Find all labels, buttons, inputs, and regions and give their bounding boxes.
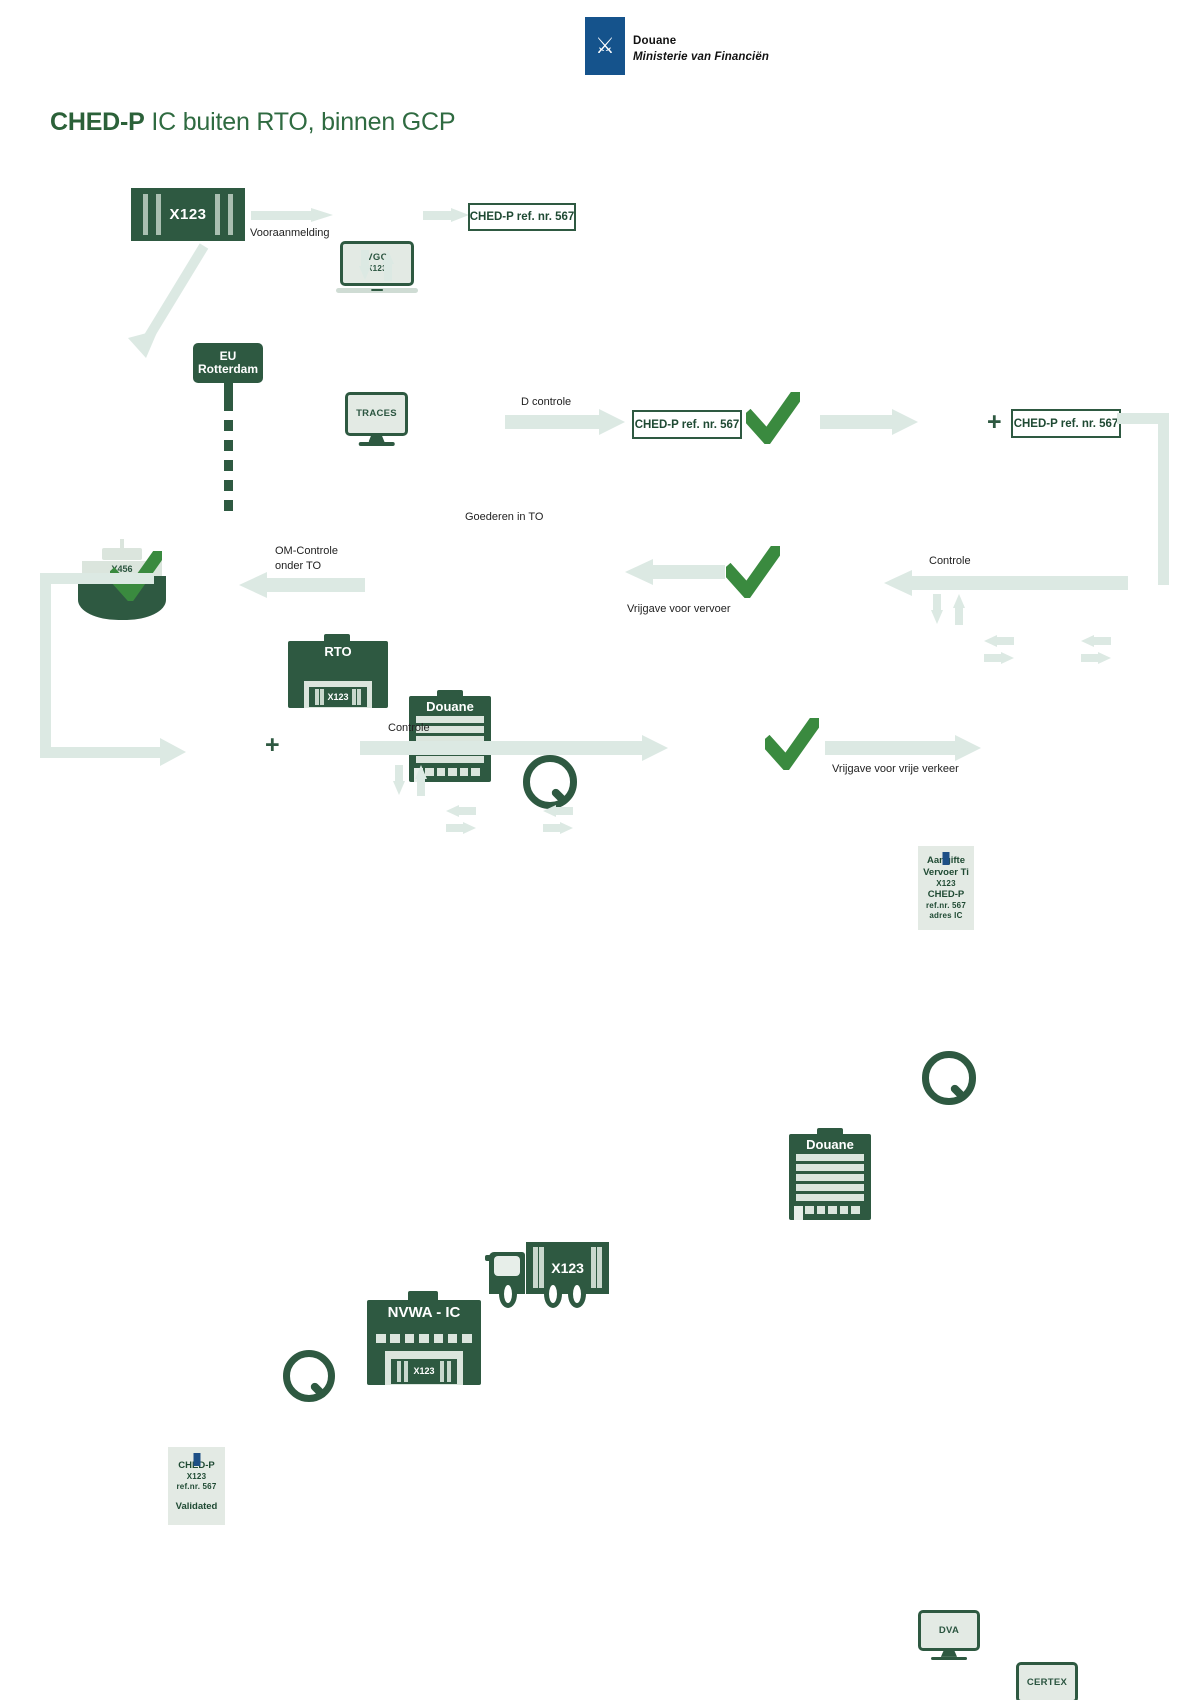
arrow-nvwa-to-validated <box>239 572 365 598</box>
arrow-down-douane-dva <box>931 594 943 626</box>
aangifte-vervoer-l2: Vervoer Ti <box>923 867 969 879</box>
checkmark-1-icon <box>746 392 800 444</box>
border-dashed-line <box>224 400 233 520</box>
arrow-certex-to-traces-bottom <box>543 822 573 834</box>
arrow-up-traces-vgc <box>382 250 394 282</box>
magnifier-controle-right-icon <box>922 1051 974 1103</box>
aangifte-vervoer-l4: CHED-P <box>928 889 964 901</box>
traces-monitor-top-screen: TRACES <box>345 392 408 436</box>
monitor-dva: DVA <box>918 1610 980 1662</box>
label-d-controle: D controle <box>521 396 571 408</box>
ched-validated-l3: ref.nr. 567 <box>176 1482 216 1492</box>
logo-line-2: Ministerie van Financiën <box>633 50 769 66</box>
page-title: CHED-P IC buiten RTO, binnen GCP <box>50 108 455 137</box>
arrow-to-douane-bottom <box>360 735 670 761</box>
monitor-dva-screen: DVA <box>918 1610 980 1651</box>
douane-mid-label: Douane <box>409 699 491 714</box>
monitor-certex-right: CERTEX <box>1016 1662 1078 1700</box>
truck-icon: X123 <box>489 1236 609 1308</box>
connector-left-l <box>40 573 200 763</box>
vgc-screen: VGC X123 <box>340 241 414 286</box>
plus-sign-1: + <box>987 410 1002 435</box>
nvwa-container-label: X123 <box>413 1366 434 1376</box>
arrow-to-chedref-mid <box>505 409 627 435</box>
arrow-right-to-douane <box>884 570 1128 596</box>
arrow-traces-to-certex-right <box>1081 635 1111 647</box>
ched-ref-box-right: CHED-P ref. nr. 567 <box>1011 409 1121 438</box>
label-controle-right: Controle <box>929 555 971 567</box>
arrow-up-dva-douane <box>953 594 965 626</box>
arrow-certex-to-dva <box>984 635 1014 647</box>
ched-validated-status: Validated <box>176 1501 218 1513</box>
rto-container-label: X123 <box>327 692 348 702</box>
arrow-vrijgave-vrije-verkeer <box>825 735 983 761</box>
rto-warehouse: RTO X123 <box>288 634 388 708</box>
douane-right-label: Douane <box>789 1137 871 1152</box>
magnifier-om-controle-icon <box>283 1350 333 1400</box>
aangifte-vervoer-card: Aangifte Vervoer Ti X123 CHED-P ref.nr. … <box>918 846 974 930</box>
arrow-vgc-to-chedref <box>423 208 471 222</box>
checkmark-4-icon <box>765 718 819 770</box>
logo-text: Douane Ministerie van Financiën <box>633 34 769 65</box>
rijksoverheid-logo-bar: ⚔ <box>585 17 625 75</box>
connector-right-u <box>1117 413 1177 585</box>
clip-icon <box>943 852 950 865</box>
nvwa-label: NVWA - IC <box>367 1304 481 1321</box>
eu-rotterdam-sign: EU Rotterdam <box>193 343 263 391</box>
label-vooraanmelding: Vooraanmelding <box>250 227 330 239</box>
arrow-dva-to-certex <box>984 652 1014 664</box>
magnifier-d-controle-icon <box>523 755 575 807</box>
ched-ref-box-top: CHED-P ref. nr. 567 <box>468 203 576 231</box>
eu-sign-line-2: Rotterdam <box>198 362 258 376</box>
checkmark-2-icon <box>726 546 780 598</box>
arrow-down-to-dms <box>393 765 405 797</box>
logo-line-1: Douane <box>633 34 769 50</box>
douane-office-right: Douane <box>789 1128 871 1220</box>
plus-sign-2: + <box>265 733 280 758</box>
arrow-certex-to-dms <box>446 805 476 817</box>
arrow-up-from-dms <box>415 765 427 797</box>
clip-icon <box>193 1453 200 1466</box>
label-om-controle: OM-Controle onder TO <box>275 544 338 574</box>
aangifte-vervoer-l5: ref.nr. 567 <box>926 901 966 911</box>
label-goederen-in-to: Goederen in TO <box>465 511 543 523</box>
ched-ref-box-mid: CHED-P ref. nr. 567 <box>632 410 742 439</box>
eu-sign-line-1: EU <box>220 349 237 363</box>
monitor-certex-right-screen: CERTEX <box>1016 1662 1078 1700</box>
vgc-laptop: VGC X123 <box>340 241 414 297</box>
ched-validated-card: CHED-P X123 ref.nr. 567 Validated <box>168 1447 225 1525</box>
royal-crest-icon: ⚔ <box>595 35 615 57</box>
aangifte-vervoer-l3: X123 <box>936 879 955 889</box>
label-vrijgave-vervoer: Vrijgave voor vervoer <box>627 603 731 615</box>
page-title-rest: IC buiten RTO, binnen GCP <box>145 108 456 136</box>
arrow-vooraanmelding <box>251 208 333 222</box>
om-controle-line-1: OM-Controle <box>275 544 338 559</box>
traces-monitor-top: TRACES <box>345 392 408 448</box>
nvwa-ic-warehouse: NVWA - IC X123 <box>367 1291 481 1385</box>
truck-container-label: X123 <box>551 1260 584 1276</box>
container-x123-top: X123 <box>131 188 245 241</box>
label-controle-bottom: Controle <box>388 722 430 734</box>
rto-label: RTO <box>288 644 388 659</box>
arrow-down-vgc-traces <box>359 250 371 282</box>
arrow-certex-to-traces-right <box>1081 652 1111 664</box>
page-title-bold: CHED-P <box>50 108 145 136</box>
ched-validated-l2: X123 <box>187 1472 206 1482</box>
arrow-to-aangifte-vervoer <box>820 409 920 435</box>
arrow-dms-to-certex <box>446 822 476 834</box>
arrow-vrijgave-vervoer <box>625 559 725 585</box>
container-top-label: X123 <box>169 206 206 223</box>
diagram-canvas: ⚔ Douane Ministerie van Financiën CHED-P… <box>0 0 1204 850</box>
aangifte-vervoer-l6: adres IC <box>929 911 962 921</box>
label-vrijgave-vrije-verkeer: Vrijgave voor vrije verkeer <box>832 763 959 775</box>
arrow-traces-to-certex-bottom <box>543 805 573 817</box>
